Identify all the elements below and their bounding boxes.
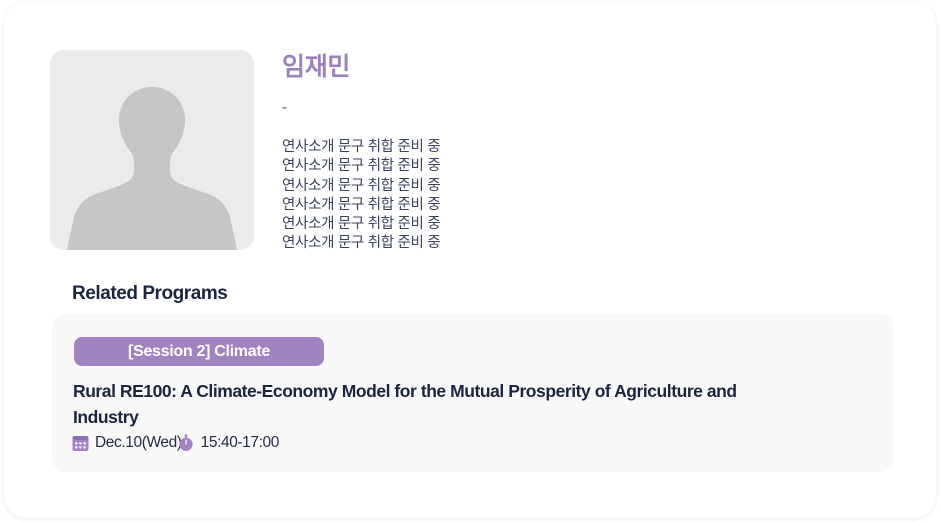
speaker-bio-line: 연사소개 문구 취합 준비 중 xyxy=(282,157,882,176)
session-badge: [Session 2] Climate xyxy=(74,337,324,366)
speaker-bio-line: 연사소개 문구 취합 준비 중 xyxy=(282,177,882,196)
program-title: Rural RE100: A Climate-Economy Model for… xyxy=(73,378,773,430)
related-programs-heading: Related Programs xyxy=(72,283,227,305)
related-program-item[interactable]: [Session 2] Climate Rural RE100: A Clima… xyxy=(52,314,894,472)
person-placeholder-icon xyxy=(50,50,254,250)
program-date: Dec.10(Wed) xyxy=(95,432,182,454)
speaker-bio-line: 연사소개 문구 취합 준비 중 xyxy=(282,234,882,253)
program-time: 15:40-17:00 xyxy=(201,432,279,454)
avatar xyxy=(50,50,254,250)
speaker-bio-line: 연사소개 문구 취합 준비 중 xyxy=(282,138,882,157)
speaker-bio-line: 연사소개 문구 취합 준비 중 xyxy=(282,196,882,215)
program-meta: Dec.10(Wed) 15:40-17:00 xyxy=(72,432,279,454)
speaker-bio: 연사소개 문구 취합 준비 중 연사소개 문구 취합 준비 중 연사소개 문구 … xyxy=(282,138,882,254)
clock-icon xyxy=(178,434,194,452)
speaker-info: 임재민 - 연사소개 문구 취합 준비 중 연사소개 문구 취합 준비 중 연사… xyxy=(282,50,882,254)
speaker-name: 임재민 xyxy=(282,50,882,84)
calendar-icon xyxy=(72,435,89,452)
speaker-affiliation: - xyxy=(282,98,882,118)
speaker-detail-card: 임재민 - 연사소개 문구 취합 준비 중 연사소개 문구 취합 준비 중 연사… xyxy=(4,2,936,518)
speaker-bio-line: 연사소개 문구 취합 준비 중 xyxy=(282,215,882,234)
